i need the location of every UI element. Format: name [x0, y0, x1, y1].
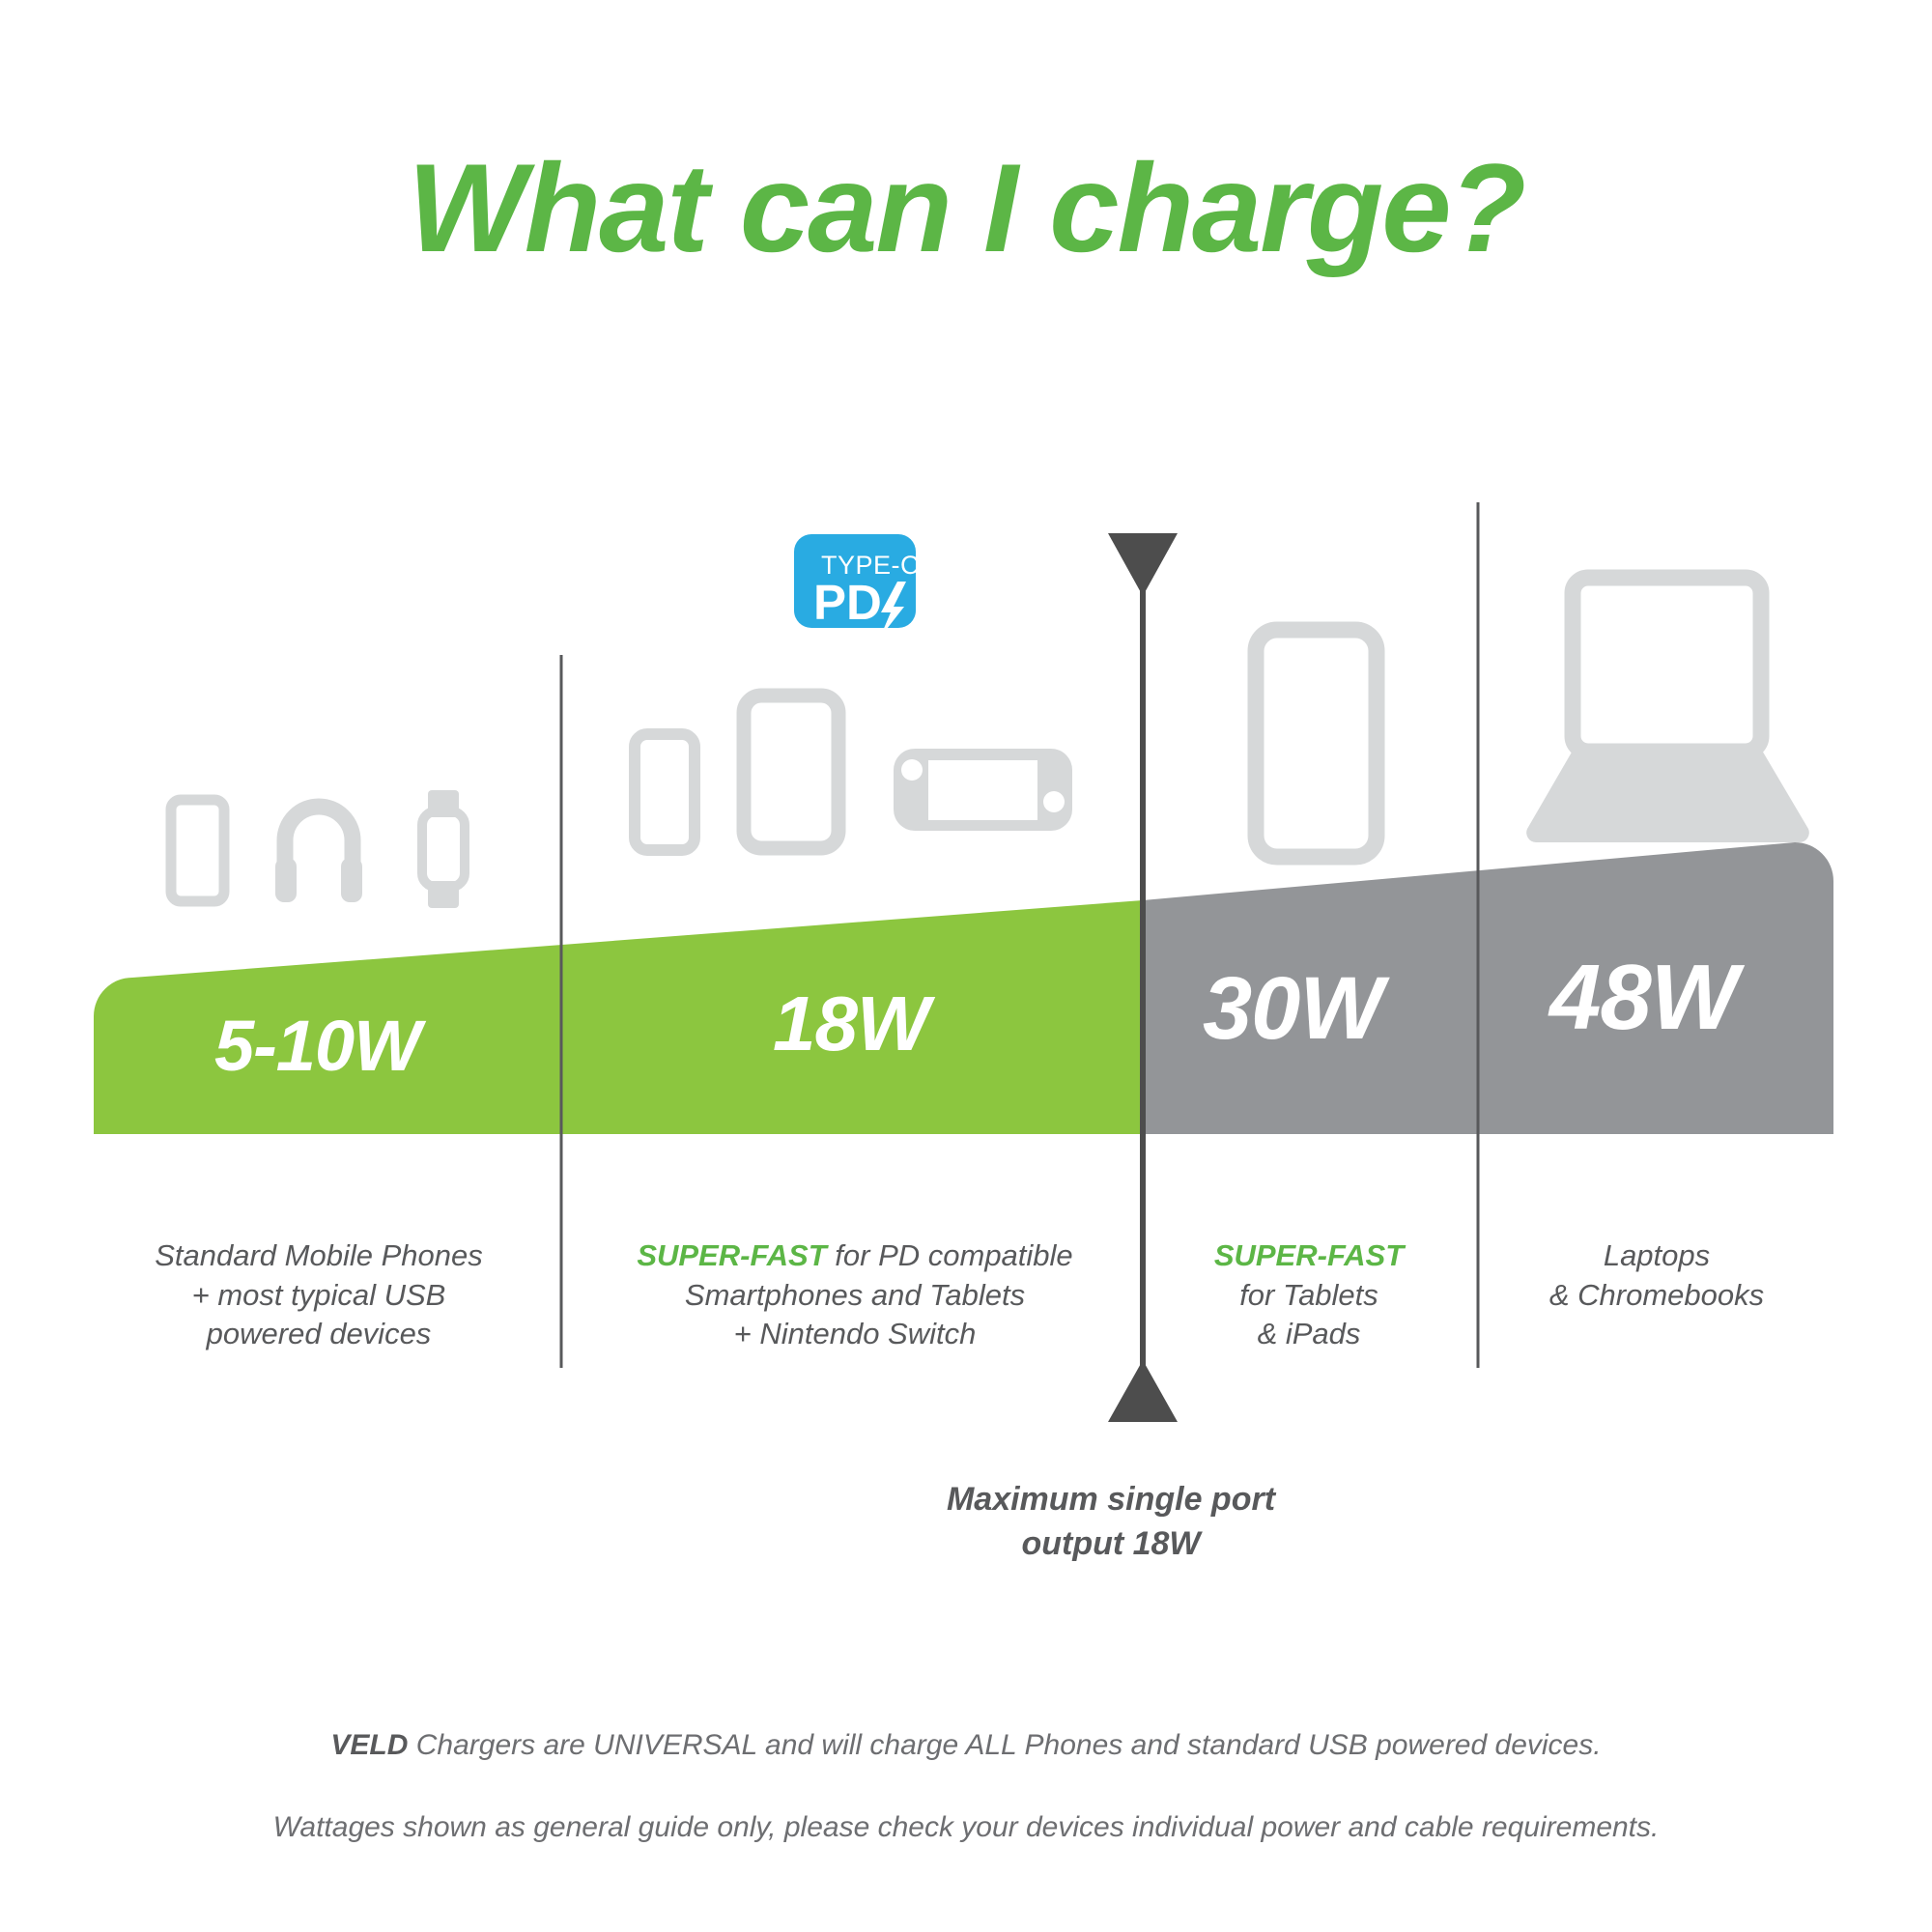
- watt-label-30w: 30W: [1203, 964, 1382, 1053]
- caption-48w: Laptops & Chromebooks: [1478, 1198, 1835, 1315]
- devices-group-48w: [1526, 578, 1809, 842]
- marker-arrow-up-icon: [1108, 1360, 1178, 1422]
- devices-group-30w: [1256, 630, 1377, 857]
- footnote-2: Wattages shown as general guide only, pl…: [0, 1811, 1932, 1844]
- caption-highlight: SUPER-FAST: [637, 1238, 826, 1272]
- smartphone-icon: [171, 800, 224, 901]
- caption-30w: SUPER-FAST for Tablets & iPads: [1159, 1198, 1459, 1353]
- tablet-icon: [1256, 630, 1377, 857]
- caption-text: for Tablets & iPads: [1239, 1278, 1378, 1350]
- infographic-canvas: What can I charge?: [0, 0, 1932, 1932]
- watt-label-5-10w: 5-10W: [214, 1010, 420, 1082]
- smartphone-icon: [635, 734, 695, 850]
- maximum-output-caption: Maximum single port output 18W: [850, 1478, 1372, 1567]
- nintendo-switch-icon: [894, 749, 1072, 831]
- watt-label-18w: 18W: [773, 985, 929, 1063]
- caption-text: Laptops & Chromebooks: [1549, 1238, 1764, 1311]
- tablet-icon: [744, 696, 838, 848]
- caption-text: Standard Mobile Phones + most typical US…: [155, 1238, 483, 1350]
- headphones-icon: [275, 807, 362, 902]
- smartwatch-icon: [422, 790, 465, 908]
- brand-name: VELD: [330, 1729, 408, 1761]
- devices-group-18w: [635, 696, 1072, 850]
- caption-18w: SUPER-FAST for PD compatible Smartphones…: [580, 1198, 1130, 1353]
- footnote-1: VELD Chargers are UNIVERSAL and will cha…: [0, 1729, 1932, 1762]
- marker-arrow-down-icon: [1108, 533, 1178, 596]
- type-c-pd-badge: TYPE-C PD: [794, 534, 920, 638]
- laptop-icon: [1526, 578, 1809, 842]
- badge-line2-label: PD: [813, 575, 882, 630]
- footnote-1-text: Chargers are UNIVERSAL and will charge A…: [408, 1729, 1601, 1761]
- watt-label-48w: 48W: [1549, 952, 1737, 1044]
- devices-group-5-10w: [171, 790, 465, 908]
- caption-5-10w: Standard Mobile Phones + most typical US…: [77, 1198, 560, 1353]
- caption-highlight: SUPER-FAST: [1214, 1238, 1404, 1272]
